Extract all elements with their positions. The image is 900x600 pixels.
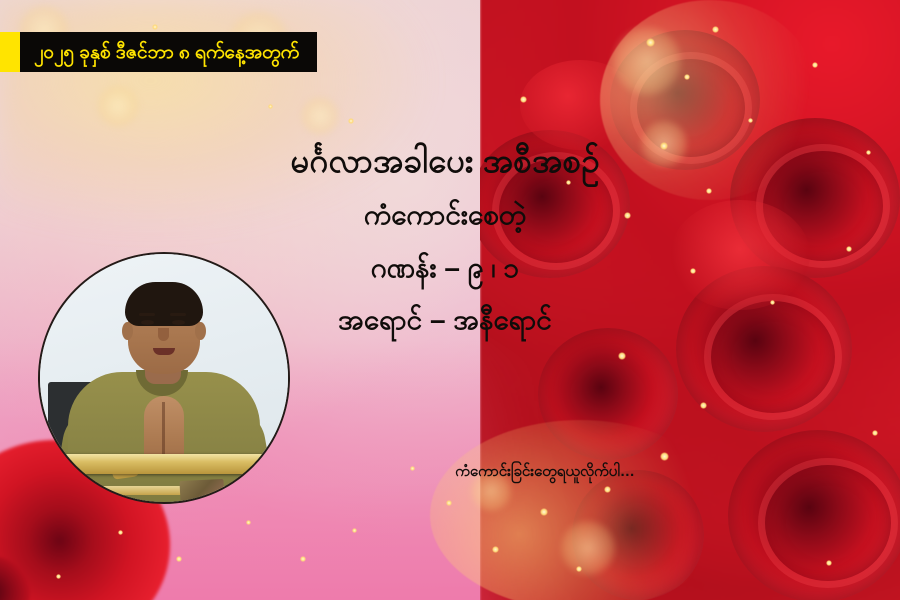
- portrait-nose: [158, 328, 169, 341]
- headline-line-2: ကံကောင်းစေတဲ့: [180, 197, 710, 233]
- portrait-eyebrow-left: [139, 313, 155, 316]
- portrait-eye-left: [141, 320, 154, 325]
- footnote-text: ကံကောင်းခြင်းတွေရယူလိုက်ပါ…: [330, 462, 760, 484]
- date-banner-text: ၂၀၂၅ ခုနှစ် ဒီဇင်ဘာ ၈ ရက်နေ့အတွက်: [34, 43, 299, 62]
- poster-title: မင်္ဂလာအခါပေး အစီအစဉ်: [180, 140, 710, 181]
- date-banner: ၂၀၂၅ ခုနှစ် ဒီဇင်ဘာ ၈ ရက်နေ့အတွက်: [0, 32, 317, 72]
- rose-core-7: [572, 470, 704, 600]
- presenter-portrait: [38, 252, 290, 504]
- portrait-ear-left: [122, 322, 133, 340]
- portrait-gold-ornament-lower: [80, 486, 260, 495]
- rose-bottom-left-core: [0, 556, 30, 600]
- portrait-ear-right: [195, 322, 206, 340]
- portrait-eyebrow-right: [170, 313, 186, 316]
- greeting-poster: ၂၀၂၅ ခုနှစ် ဒီဇင်ဘာ ၈ ရက်နေ့အတွက် မင်္ဂလ…: [0, 0, 900, 600]
- portrait-mouth: [153, 348, 175, 355]
- portrait-desk-card: [179, 479, 224, 503]
- rose-core-5: [538, 328, 678, 460]
- portrait-hair: [125, 282, 203, 326]
- date-banner-accent-bar: [0, 32, 20, 72]
- portrait-eye-right: [172, 320, 185, 325]
- portrait-gold-ornament: [62, 454, 272, 474]
- rose-swirl-4: [704, 294, 842, 420]
- date-banner-body: ၂၀၂၅ ခုနှစ် ဒီဇင်ဘာ ၈ ရက်နေ့အတွက်: [20, 32, 317, 72]
- rose-swirl-6: [758, 458, 898, 588]
- rose-swirl-3: [756, 144, 890, 268]
